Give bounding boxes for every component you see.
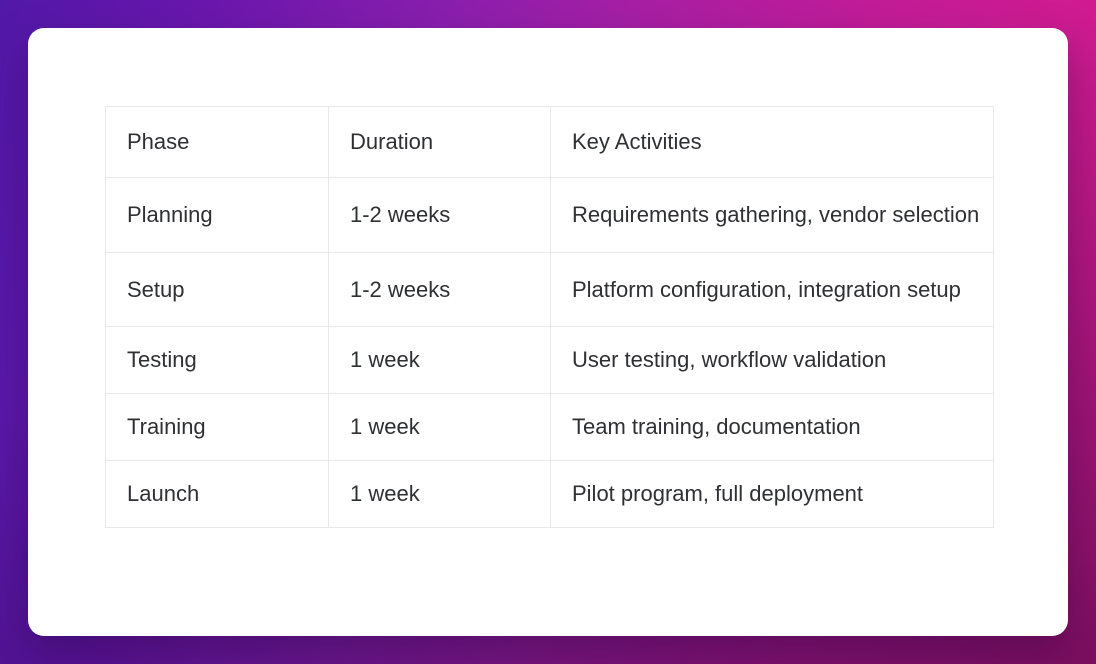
cell-activities: Pilot program, full deployment [551,461,994,528]
table-body: Planning 1-2 weeks Requirements gatherin… [106,177,994,527]
table-row: Testing 1 week User testing, workflow va… [106,327,994,394]
table-header: Phase Duration Key Activities [106,107,994,178]
cell-phase: Planning [106,177,329,252]
table-row: Training 1 week Team training, documenta… [106,394,994,461]
table-row: Planning 1-2 weeks Requirements gatherin… [106,177,994,252]
table-container: Phase Duration Key Activities Planning 1… [105,106,993,528]
cell-phase: Launch [106,461,329,528]
column-header-key-activities: Key Activities [551,107,994,178]
cell-duration: 1-2 weeks [329,252,551,327]
column-header-phase: Phase [106,107,329,178]
cell-duration: 1 week [329,461,551,528]
cell-phase: Training [106,394,329,461]
cell-duration: 1-2 weeks [329,177,551,252]
column-header-duration: Duration [329,107,551,178]
cell-phase: Setup [106,252,329,327]
cell-duration: 1 week [329,394,551,461]
table-row: Setup 1-2 weeks Platform configuration, … [106,252,994,327]
cell-phase: Testing [106,327,329,394]
content-card: Phase Duration Key Activities Planning 1… [28,28,1068,636]
table-header-row: Phase Duration Key Activities [106,107,994,178]
implementation-phases-table: Phase Duration Key Activities Planning 1… [105,106,994,528]
cell-activities: Team training, documentation [551,394,994,461]
table-row: Launch 1 week Pilot program, full deploy… [106,461,994,528]
cell-activities: User testing, workflow validation [551,327,994,394]
cell-activities: Platform configuration, integration setu… [551,252,994,327]
cell-activities: Requirements gathering, vendor selection [551,177,994,252]
cell-duration: 1 week [329,327,551,394]
